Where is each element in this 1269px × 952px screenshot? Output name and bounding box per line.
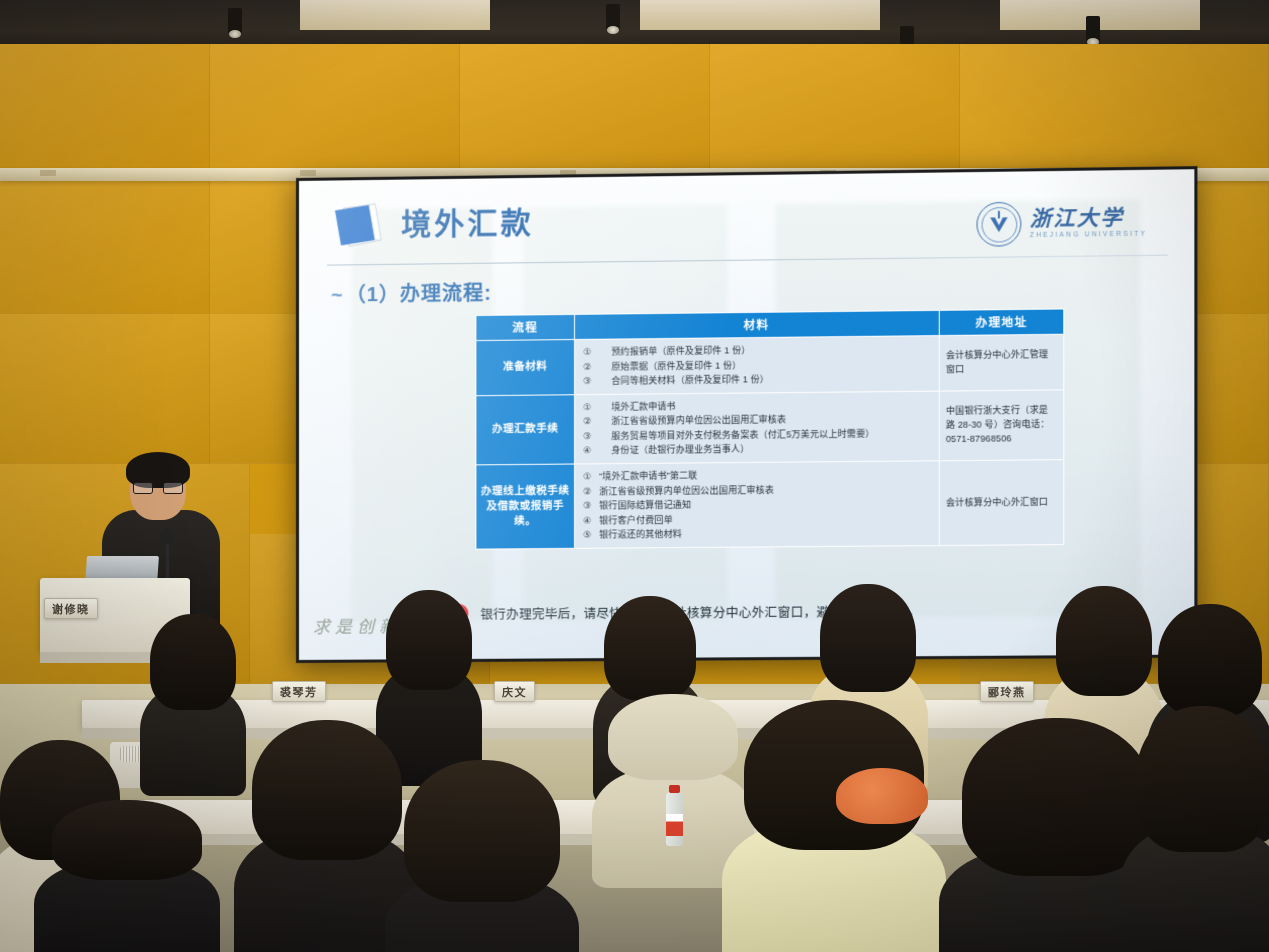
material-item: ⑤银行返还的其他材料	[583, 525, 933, 542]
wall-panel	[0, 314, 210, 464]
audience-member-foreground	[52, 800, 202, 952]
presenter-glasses-icon	[133, 482, 183, 494]
page-title: 境外汇款	[401, 198, 534, 244]
person-hair	[604, 596, 696, 700]
table-row: 办理线上缴税手续及借款或报销手续。①“境外汇款申请书”第二联②浙江省省级预算内单…	[476, 460, 1064, 549]
placard-audience-1: 裘琴芳	[272, 681, 326, 702]
cell-materials: ①预约报销单（原件及复印件 1 份）②原始票据（原件及复印件 1 份）③合同等相…	[575, 336, 940, 395]
material-index: ②	[583, 414, 611, 429]
material-index: ④	[583, 513, 599, 528]
cell-process: 办理线上缴税手续及借款或报销手续。	[476, 464, 575, 549]
section-label: ~（1）办理流程:	[331, 277, 492, 308]
material-index: ④	[583, 444, 611, 459]
person-hair	[52, 800, 202, 880]
wall-panel	[960, 44, 1269, 174]
ceiling-light-panel	[300, 0, 490, 30]
material-item: ④身份证（赴银行办理业务当事人）	[583, 441, 933, 459]
placard-audience-3: 郦玲燕	[980, 681, 1034, 702]
zju-name-en: ZHEJIANG UNIVERSITY	[1030, 231, 1147, 239]
blue-book-icon	[329, 202, 385, 251]
person-hair	[820, 584, 916, 692]
table-row: 办理汇款手续①境外汇款申请书②浙江省省级预算内单位因公出国用汇审核表③服务贸易等…	[476, 390, 1064, 465]
person-hair	[962, 718, 1152, 876]
material-index: ①	[583, 400, 611, 415]
bottle-label	[666, 814, 683, 836]
material-index: ③	[583, 429, 611, 444]
cell-address: 会计核算分中心外汇管理窗口	[939, 334, 1063, 391]
person-hair	[1136, 706, 1269, 852]
ceiling-spotlight	[228, 8, 242, 34]
person-hair	[608, 694, 738, 780]
material-index: ③	[583, 374, 611, 389]
ceiling-light-panel	[640, 0, 880, 30]
wall-panel	[0, 44, 210, 174]
material-index: ①	[583, 345, 611, 360]
ceiling-spotlight	[606, 4, 620, 30]
material-index: ⑤	[583, 528, 599, 543]
slide-header: 境外汇款 浙江大学 ZHEJIANG UNIVERSITY	[329, 186, 1170, 263]
ceiling-light-panel	[1000, 0, 1200, 30]
material-index: ③	[583, 499, 599, 514]
zju-logo: 浙江大学 ZHEJIANG UNIVERSITY	[977, 200, 1147, 247]
table-row: 准备材料①预约报销单（原件及复印件 1 份）②原始票据（原件及复印件 1 份）③…	[476, 334, 1064, 395]
material-index: ①	[583, 469, 599, 484]
cell-materials: ①“境外汇款申请书”第二联②浙江省省级预算内单位因公出国用汇审核表③银行国际结算…	[575, 461, 940, 548]
cell-address: 会计核算分中心外汇窗口	[939, 460, 1063, 546]
audience-member	[150, 614, 236, 764]
col-header-process: 流程	[476, 314, 575, 340]
col-header-materials: 材料	[575, 310, 940, 339]
person-hair	[1158, 604, 1262, 716]
water-bottle	[666, 792, 683, 846]
cell-process: 办理汇款手续	[476, 394, 575, 464]
audience-member-foreground	[252, 720, 402, 952]
audience-member-foreground	[744, 700, 924, 952]
zju-name-cn: 浙江大学	[1030, 207, 1147, 230]
placard-presenter: 谢修晓	[44, 598, 98, 619]
wall-panel	[460, 44, 710, 174]
table-body: 准备材料①预约报销单（原件及复印件 1 份）②原始票据（原件及复印件 1 份）③…	[476, 334, 1064, 549]
bullet-marker: ~	[331, 284, 344, 306]
audience-member-foreground	[404, 760, 560, 952]
microphone-icon	[160, 528, 174, 544]
person-hair	[150, 614, 236, 710]
cell-address: 中国银行浙大支行（求是路 28-30 号）咨询电话：0571-87968506	[939, 390, 1063, 461]
material-index: ②	[583, 359, 611, 374]
wall-panel	[210, 314, 310, 464]
procedure-table: 流程 材料 办理地址 准备材料①预约报销单（原件及复印件 1 份）②原始票据（原…	[475, 308, 1064, 549]
person-hair	[404, 760, 560, 902]
material-item: ③合同等相关材料（原件及复印件 1 份）	[583, 371, 933, 389]
ceiling-spotlight	[1086, 16, 1100, 42]
wall-panel	[0, 174, 210, 314]
person-hair	[1056, 586, 1152, 696]
lecture-hall-photo: 境外汇款 浙江大学 ZHEJIANG UNIVERSITY	[0, 0, 1269, 952]
person-scarf	[836, 768, 928, 824]
wall-panel	[710, 44, 960, 174]
person-hair	[386, 590, 472, 690]
zju-seal-icon	[977, 202, 1022, 247]
zju-wordmark: 浙江大学 ZHEJIANG UNIVERSITY	[1030, 207, 1147, 239]
material-index: ②	[583, 484, 599, 499]
placard-audience-2: 庆文	[494, 681, 535, 702]
wall-panel	[210, 44, 460, 174]
col-header-address: 办理地址	[939, 309, 1063, 336]
cell-materials: ①境外汇款申请书②浙江省省级预算内单位因公出国用汇审核表③服务贸易等项目对外支付…	[575, 391, 940, 464]
audience-member-foreground	[1136, 706, 1269, 952]
section-label-text: （1）办理流程:	[346, 283, 492, 307]
warning-note: ! 银行办理完毕后，请尽快送回原会计核算分中心外汇窗口，避免产生滞纳金。	[449, 599, 1153, 623]
cell-process: 准备材料	[476, 340, 575, 396]
person-hair	[252, 720, 402, 860]
